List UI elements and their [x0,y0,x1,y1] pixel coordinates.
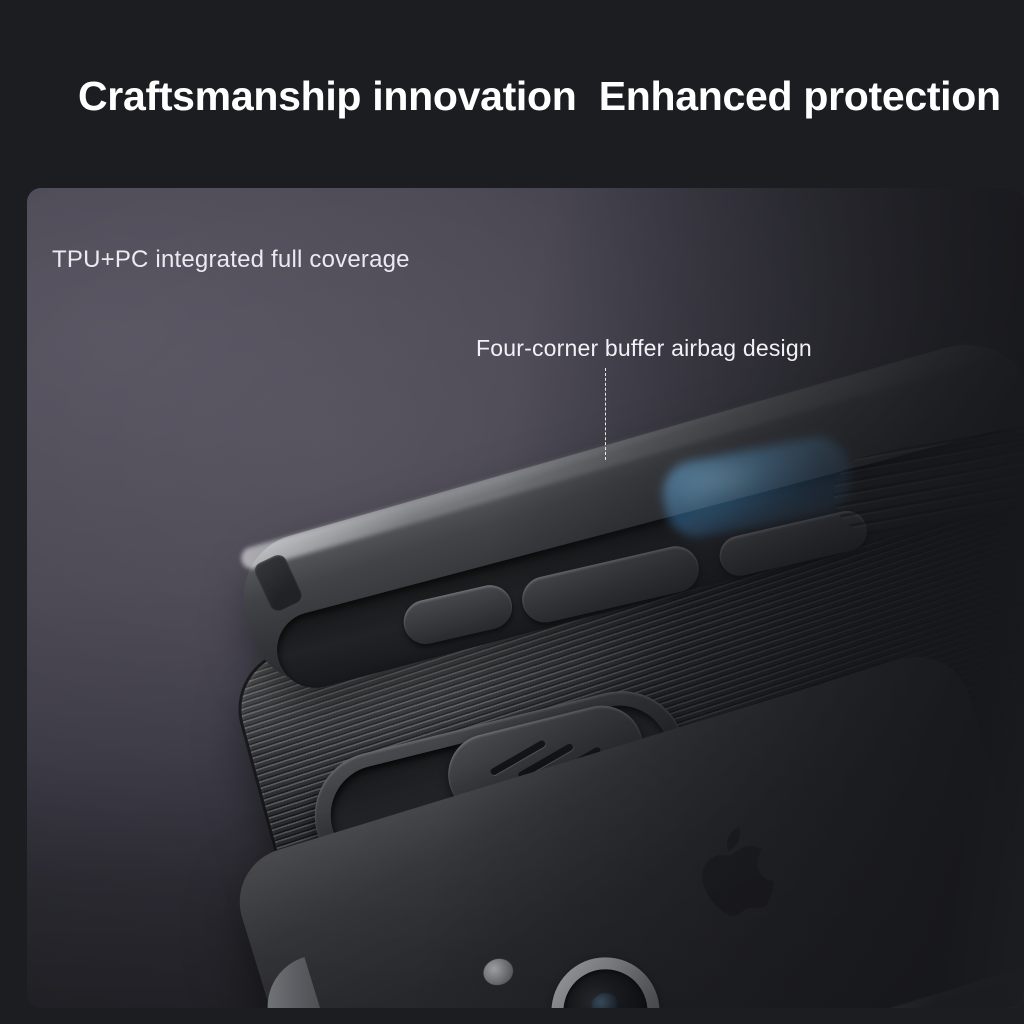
page-title: Craftsmanship innovation Enhanced protec… [78,74,958,119]
camera-lens-iris [589,990,620,1008]
product-marketing-image: Craftsmanship innovation Enhanced protec… [0,0,1024,1024]
callout-leader-line [605,368,606,460]
feature-label-tpu-pc: TPU+PC integrated full coverage [52,246,410,274]
showcase-panel: TPU+PC integrated full coverage Four-cor… [27,188,1024,1008]
feature-label-airbag: Four-corner buffer airbag design [476,335,812,362]
